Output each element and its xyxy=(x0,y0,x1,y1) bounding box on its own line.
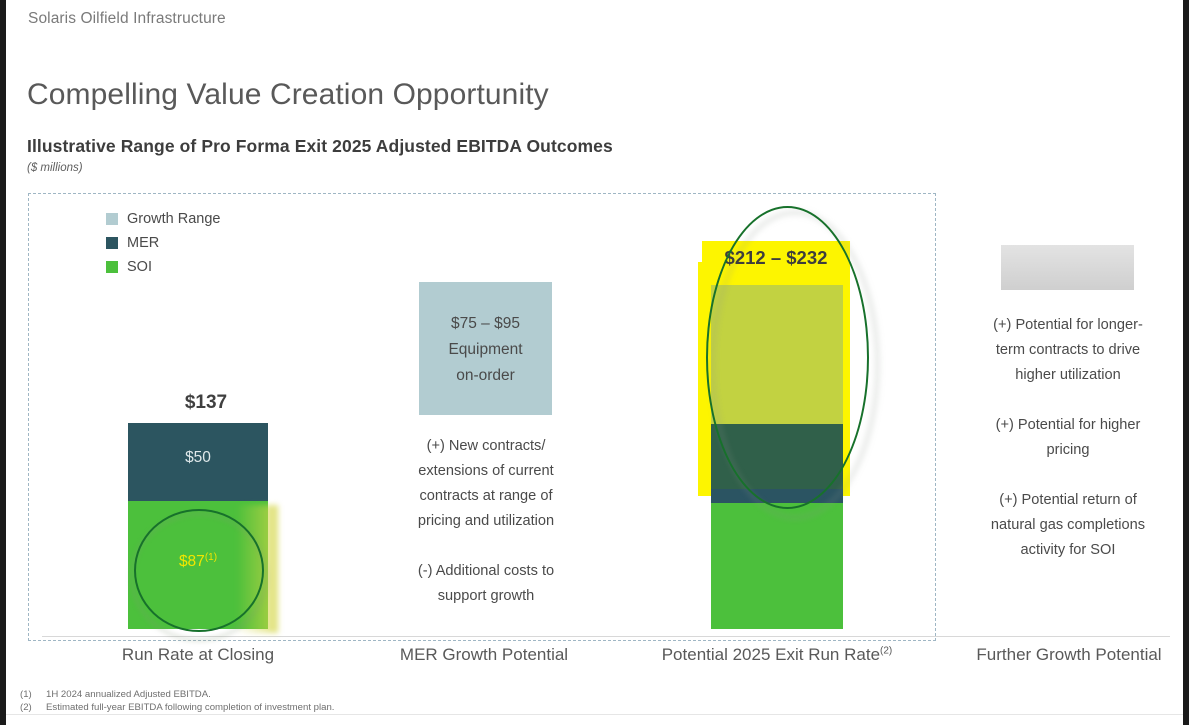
column4-note3-line3: activity for SOI xyxy=(968,538,1168,563)
axis-label-3-text: Potential 2025 Exit Run Rate xyxy=(662,645,880,664)
column1-segment-mer: $50 xyxy=(128,423,268,501)
footnote-row-1: (1) 1H 2024 annualized Adjusted EBITDA. xyxy=(20,688,334,701)
footnote-marker-2: (2) xyxy=(20,701,46,714)
legend-swatch-growth-range xyxy=(106,213,118,225)
column4-note3-line1: (+) Potential return of xyxy=(968,488,1168,513)
footnotes: (1) 1H 2024 annualized Adjusted EBITDA. … xyxy=(20,688,334,714)
column2-note2-line1: (-) Additional costs to xyxy=(396,559,576,584)
page-title: Compelling Value Creation Opportunity xyxy=(27,78,549,112)
column2-note1-line2: extensions of current xyxy=(396,459,576,484)
legend-swatch-mer xyxy=(106,237,118,249)
column3-segment-soi xyxy=(711,503,843,629)
axis-label-mer-growth-potential: MER Growth Potential xyxy=(384,645,584,665)
column1-soi-value: $87(1) xyxy=(128,552,268,571)
column2-note-gap xyxy=(396,534,576,559)
column4-note1-line1: (+) Potential for longer- xyxy=(968,313,1168,338)
brand-label: Solaris Oilfield Infrastructure xyxy=(28,10,226,28)
column2-range-caption-2: on-order xyxy=(419,363,552,389)
column4-gradient-box xyxy=(1001,245,1134,290)
column1-mer-value: $50 xyxy=(128,449,268,467)
column4-notes: (+) Potential for longer- term contracts… xyxy=(968,313,1168,563)
axis-label-3-footnote-marker: (2) xyxy=(880,645,892,656)
column2-growth-range-box: $75 – $95 Equipment on-order xyxy=(419,282,552,415)
legend-label-mer: MER xyxy=(127,235,159,251)
footnote-row-2: (2) Estimated full-year EBITDA following… xyxy=(20,701,334,714)
column1-total-label: $137 xyxy=(126,392,286,414)
chart-units-label: ($ millions) xyxy=(27,162,83,174)
column3-ellipse-annotation xyxy=(706,206,869,509)
legend-item-soi: SOI xyxy=(106,256,221,278)
column2-note1-line3: contracts at range of xyxy=(396,484,576,509)
column4-note-gap-2 xyxy=(968,463,1168,488)
column2-range-caption-1: Equipment xyxy=(419,337,552,363)
column4-note-gap-1 xyxy=(968,388,1168,413)
axis-label-potential-2025-exit-run-rate: Potential 2025 Exit Run Rate(2) xyxy=(644,645,910,665)
column2-note2-line2: support growth xyxy=(396,584,576,609)
column2-note1-line1: (+) New contracts/ xyxy=(396,434,576,459)
column2-note1-line4: pricing and utilization xyxy=(396,509,576,534)
legend-item-growth-range: Growth Range xyxy=(106,208,221,230)
chart-legend: Growth Range MER SOI xyxy=(106,208,221,280)
presentation-slide: Solaris Oilfield Infrastructure Compelli… xyxy=(0,0,1189,725)
column4-note2-line1: (+) Potential for higher xyxy=(968,413,1168,438)
column4-note2-line2: pricing xyxy=(968,438,1168,463)
column4-note3-line2: natural gas completions xyxy=(968,513,1168,538)
axis-label-further-growth-potential: Further Growth Potential xyxy=(961,645,1177,665)
legend-swatch-soi xyxy=(106,261,118,273)
column1-soi-footnote-marker: (1) xyxy=(205,552,217,563)
column2-notes: (+) New contracts/ extensions of current… xyxy=(396,434,576,609)
axis-label-run-rate-at-closing: Run Rate at Closing xyxy=(98,645,298,665)
legend-label-growth-range: Growth Range xyxy=(127,211,221,227)
legend-label-soi: SOI xyxy=(127,259,152,275)
chart-subtitle: Illustrative Range of Pro Forma Exit 202… xyxy=(27,136,613,157)
legend-item-mer: MER xyxy=(106,232,221,254)
column2-range-value: $75 – $95 xyxy=(419,311,552,337)
footnote-text-1: 1H 2024 annualized Adjusted EBITDA. xyxy=(46,688,211,701)
footer-divider xyxy=(6,714,1189,715)
column1-soi-value-text: $87 xyxy=(179,553,205,570)
footnote-text-2: Estimated full-year EBITDA following com… xyxy=(46,701,334,714)
column4-note1-line3: higher utilization xyxy=(968,363,1168,388)
column4-note1-line2: term contracts to drive xyxy=(968,338,1168,363)
footnote-marker-1: (1) xyxy=(20,688,46,701)
column2-growth-range-text: $75 – $95 Equipment on-order xyxy=(419,311,552,389)
